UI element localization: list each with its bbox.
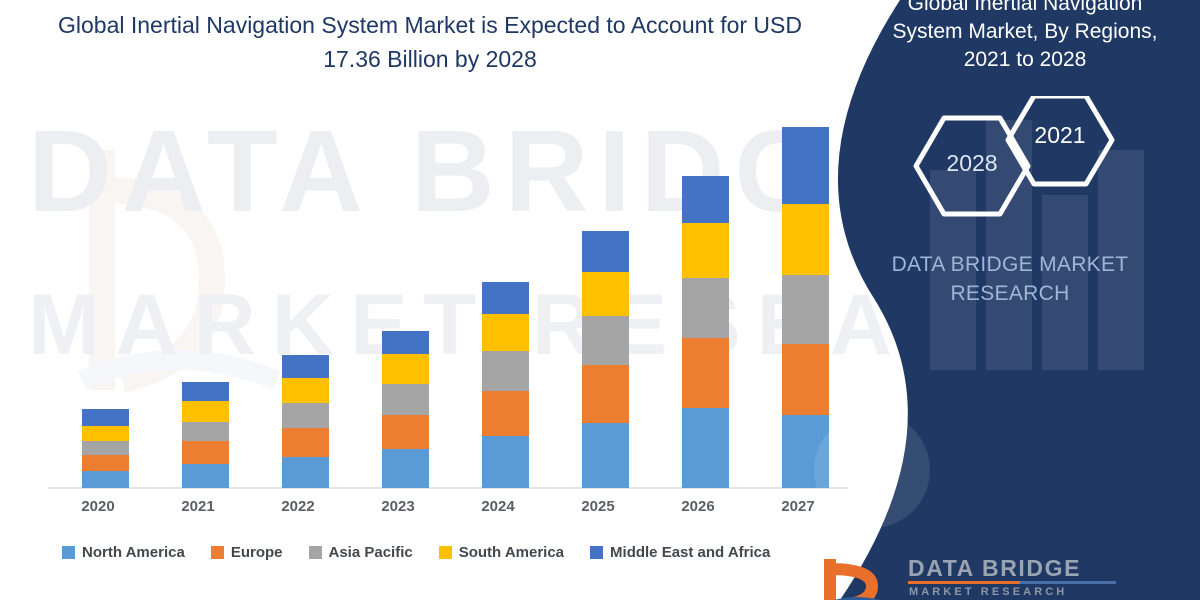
- hexagon-2021-label: 2021: [1008, 122, 1112, 149]
- bar-2024[interactable]: [482, 282, 529, 488]
- bar-segment-asia-pacific[interactable]: [582, 316, 629, 365]
- bar-segment-europe[interactable]: [82, 455, 129, 471]
- chart-region: 20202021202220232024202520262027 North A…: [0, 0, 900, 600]
- x-axis-labels: 20202021202220232024202520262027: [48, 498, 848, 524]
- brand-line-2: RESEARCH: [950, 282, 1069, 305]
- bar-segment-middle-east-and-africa[interactable]: [82, 409, 129, 426]
- bar-segment-south-america[interactable]: [582, 272, 629, 317]
- chart-legend: North AmericaEuropeAsia PacificSouth Ame…: [62, 540, 770, 564]
- logo-name: DATA BRIDGE: [908, 555, 1081, 582]
- bar-segment-europe[interactable]: [482, 391, 529, 437]
- bar-segment-middle-east-and-africa[interactable]: [582, 231, 629, 271]
- legend-item-middle-east-and-africa[interactable]: Middle East and Africa: [590, 544, 770, 561]
- right-panel: Global Inertial Navigation System Market…: [780, 0, 1200, 600]
- bar-segment-asia-pacific[interactable]: [482, 351, 529, 391]
- legend-item-south-america[interactable]: South America: [439, 544, 564, 561]
- legend-label: Asia Pacific: [329, 544, 413, 561]
- bar-segment-middle-east-and-africa[interactable]: [182, 382, 229, 401]
- bar-segment-south-america[interactable]: [682, 223, 729, 278]
- bar-segment-asia-pacific[interactable]: [682, 278, 729, 338]
- bar-segment-europe[interactable]: [582, 365, 629, 422]
- bar-2022[interactable]: [282, 355, 329, 488]
- legend-item-europe[interactable]: Europe: [211, 544, 283, 561]
- bar-segment-europe[interactable]: [682, 338, 729, 408]
- legend-swatch-icon: [309, 546, 322, 559]
- bar-segment-south-america[interactable]: [282, 378, 329, 403]
- legend-label: South America: [459, 544, 564, 561]
- bar-2023[interactable]: [382, 331, 429, 488]
- x-tick-2020: 2020: [48, 498, 148, 515]
- legend-label: Europe: [231, 544, 283, 561]
- x-tick-2021: 2021: [148, 498, 248, 515]
- bar-segment-middle-east-and-africa[interactable]: [482, 282, 529, 314]
- bar-segment-south-america[interactable]: [382, 354, 429, 384]
- brand-line-1: DATA BRIDGE MARKET: [892, 253, 1129, 276]
- legend-swatch-icon: [211, 546, 224, 559]
- hexagon-2028-label: 2028: [916, 150, 1028, 177]
- bar-segment-europe[interactable]: [282, 428, 329, 457]
- x-tick-2024: 2024: [448, 498, 548, 515]
- page-title: Global Inertial Navigation System Market…: [40, 8, 820, 76]
- bar-segment-north-america[interactable]: [182, 464, 229, 488]
- bar-segment-north-america[interactable]: [582, 423, 629, 488]
- legend-item-north-america[interactable]: North America: [62, 544, 185, 561]
- right-panel-title: Global Inertial Navigation System Market…: [875, 0, 1175, 74]
- legend-item-asia-pacific[interactable]: Asia Pacific: [309, 544, 413, 561]
- bar-segment-europe[interactable]: [182, 441, 229, 464]
- logo-subtitle: MARKET RESEARCH: [909, 586, 1067, 598]
- bar-segment-north-america[interactable]: [682, 408, 729, 488]
- bar-2021[interactable]: [182, 382, 229, 489]
- legend-swatch-icon: [62, 546, 75, 559]
- hexagon-group: 2028 2021: [900, 96, 1130, 236]
- brand-name: DATA BRIDGE MARKET RESEARCH: [850, 250, 1170, 308]
- bridge-logo-icon: [820, 555, 896, 600]
- bar-segment-middle-east-and-africa[interactable]: [382, 331, 429, 354]
- bar-segment-north-america[interactable]: [82, 471, 129, 488]
- x-tick-2022: 2022: [248, 498, 348, 515]
- x-tick-2025: 2025: [548, 498, 648, 515]
- bar-segment-asia-pacific[interactable]: [282, 403, 329, 428]
- legend-label: North America: [82, 544, 185, 561]
- bar-2025[interactable]: [582, 231, 629, 488]
- bar-segment-south-america[interactable]: [182, 401, 229, 422]
- bar-segment-asia-pacific[interactable]: [182, 422, 229, 441]
- bar-segment-south-america[interactable]: [82, 426, 129, 441]
- company-logo: DATA BRIDGE MARKET RESEARCH: [820, 555, 1150, 600]
- legend-swatch-icon: [590, 546, 603, 559]
- bar-segment-asia-pacific[interactable]: [82, 441, 129, 455]
- bar-2026[interactable]: [682, 176, 729, 488]
- bar-segment-north-america[interactable]: [382, 449, 429, 488]
- legend-swatch-icon: [439, 546, 452, 559]
- bar-segment-asia-pacific[interactable]: [382, 384, 429, 415]
- bar-segment-europe[interactable]: [382, 415, 429, 449]
- infographic-canvas: DATA BRIDGE MARKET RESEARCH 202020212022…: [0, 0, 1200, 600]
- bar-segment-middle-east-and-africa[interactable]: [282, 355, 329, 378]
- legend-label: Middle East and Africa: [610, 544, 770, 561]
- bar-2020[interactable]: [82, 409, 129, 488]
- x-tick-2023: 2023: [348, 498, 448, 515]
- bar-segment-north-america[interactable]: [482, 436, 529, 488]
- bar-segment-middle-east-and-africa[interactable]: [682, 176, 729, 223]
- bars-plot-area: [55, 110, 845, 488]
- x-tick-2026: 2026: [648, 498, 748, 515]
- logo-rule-accent: [908, 581, 1020, 584]
- bar-segment-south-america[interactable]: [482, 314, 529, 351]
- bar-segment-north-america[interactable]: [282, 457, 329, 488]
